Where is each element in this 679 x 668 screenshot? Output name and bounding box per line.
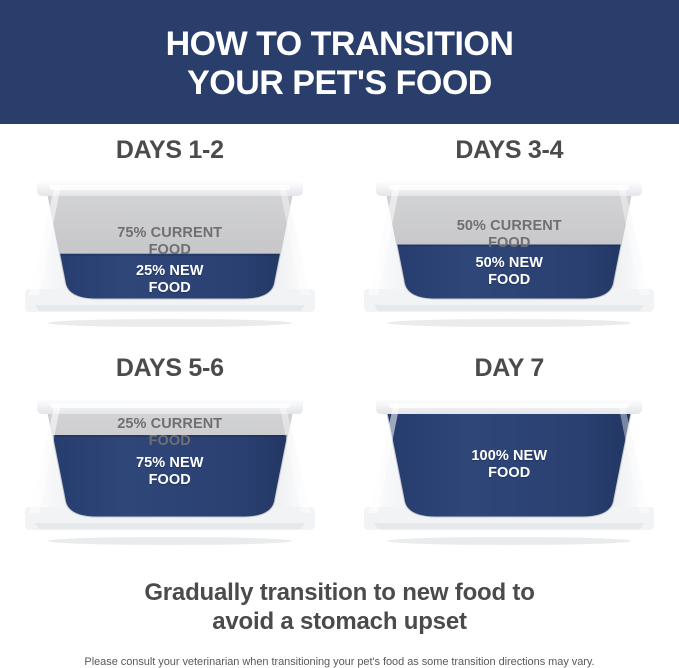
bowl-diagram-days-1-2: 75% CURRENT FOOD 25% NEW FOOD <box>25 177 315 327</box>
page-title-line-2: YOUR PET'S FOOD <box>187 64 492 103</box>
page-header: HOW TO TRANSITION YOUR PET'S FOOD <box>0 0 679 124</box>
step-card-days-5-6: DAYS 5-6 <box>0 354 340 572</box>
bowl-diagram-day-7: 100% NEW FOOD <box>364 395 654 545</box>
page-title-line-1: HOW TO TRANSITION <box>166 25 514 64</box>
step-title: DAYS 1-2 <box>116 136 224 165</box>
step-card-days-1-2: DAYS 1-2 <box>0 136 340 354</box>
footer-headline-line-2: avoid a stomach upset <box>0 607 679 636</box>
step-card-day-7: DAY 7 100% NEW FOOD <box>340 354 679 572</box>
step-title: DAYS 5-6 <box>116 354 224 383</box>
transition-steps-grid: DAYS 1-2 <box>0 124 679 572</box>
page-footer: Gradually transition to new food to avoi… <box>0 578 679 668</box>
footer-headline-line-1: Gradually transition to new food to <box>0 578 679 607</box>
bowl-diagram-days-3-4: 50% CURRENT FOOD 50% NEW FOOD <box>364 177 654 327</box>
step-card-days-3-4: DAYS 3-4 <box>340 136 679 354</box>
step-title: DAY 7 <box>475 354 544 383</box>
step-title: DAYS 3-4 <box>455 136 563 165</box>
bowl-diagram-days-5-6: 25% CURRENT FOOD 75% NEW FOOD <box>25 395 315 545</box>
